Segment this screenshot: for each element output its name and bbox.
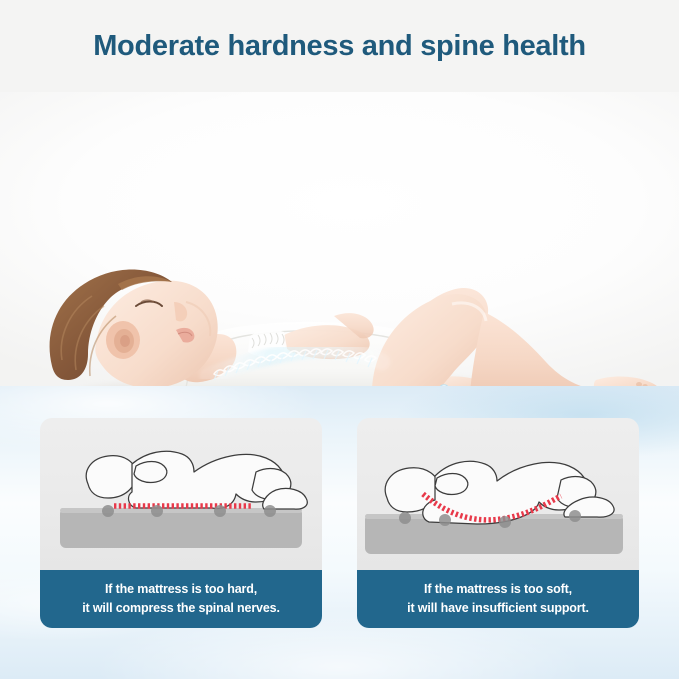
product-infographic: Moderate hardness and spine health (0, 0, 679, 679)
baby-figure (0, 184, 679, 386)
panel-too-hard: If the mattress is too hard, it will com… (40, 418, 322, 628)
too-hard-diagram (40, 418, 322, 570)
panel-card-too-soft (357, 418, 639, 570)
too-soft-diagram (357, 418, 639, 570)
caption-line-2: it will have insufficient support. (407, 599, 589, 618)
page-title: Moderate hardness and spine health (0, 30, 679, 63)
caption-line-1: If the mattress is too hard, (105, 580, 257, 599)
caption-line-2: it will compress the spinal nerves. (82, 599, 280, 618)
hero-photo (0, 92, 679, 386)
panel-card-too-hard (40, 418, 322, 570)
comparison-section: If the mattress is too hard, it will com… (0, 386, 679, 679)
panel-too-soft: If the mattress is too soft, it will hav… (357, 418, 639, 628)
caption-too-soft: If the mattress is too soft, it will hav… (357, 570, 639, 628)
caption-too-hard: If the mattress is too hard, it will com… (40, 570, 322, 628)
caption-line-1: If the mattress is too soft, (424, 580, 572, 599)
hero-section: Moderate hardness and spine health (0, 0, 679, 386)
